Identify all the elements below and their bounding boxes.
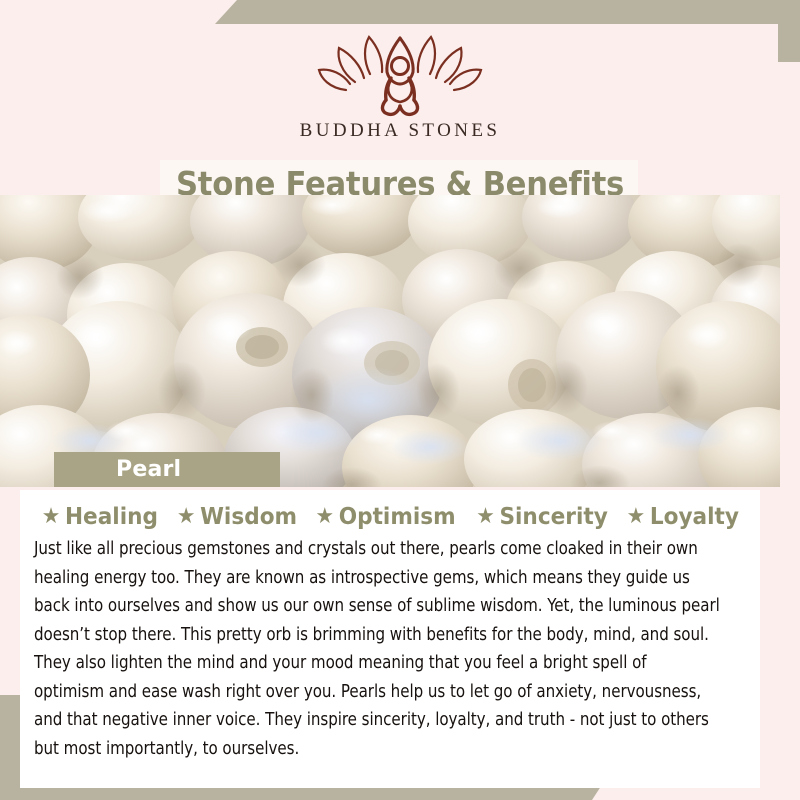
pearls-photo bbox=[0, 195, 780, 487]
feature-item-healing: ★ Healing bbox=[42, 504, 158, 530]
feature-item-sincerity: ★ Sincerity bbox=[476, 504, 608, 530]
brand-name: BUDDHA STONES bbox=[300, 120, 501, 142]
frame-band-top bbox=[215, 0, 800, 24]
star-icon: ★ bbox=[316, 506, 335, 528]
feature-item-optimism: ★ Optimism bbox=[316, 504, 456, 530]
description-panel: ★ Healing ★ Wisdom ★ Optimism ★ Sincerit… bbox=[20, 490, 760, 788]
feature-label: Loyalty bbox=[649, 504, 738, 530]
star-icon: ★ bbox=[176, 506, 195, 528]
frame-band-right bbox=[778, 0, 800, 62]
description-text: Just like all precious gemstones and cry… bbox=[34, 535, 721, 763]
star-icon: ★ bbox=[626, 506, 645, 528]
feature-label: Healing bbox=[65, 504, 158, 530]
feature-label: Sincerity bbox=[499, 504, 607, 530]
feature-label: Optimism bbox=[339, 504, 456, 530]
lotus-meditation-icon bbox=[315, 30, 485, 118]
brand-logo: BUDDHA STONES bbox=[22, 24, 778, 150]
infographic-page: BUDDHA STONES Stone Features & Benefits bbox=[0, 0, 800, 800]
stone-name-tag: Pearl bbox=[54, 452, 280, 487]
feature-label: Wisdom bbox=[200, 504, 297, 530]
pearls-photo-art bbox=[0, 195, 780, 487]
star-icon: ★ bbox=[42, 506, 61, 528]
frame-band-left bbox=[0, 695, 22, 800]
content-card: BUDDHA STONES Stone Features & Benefits bbox=[22, 24, 778, 760]
stone-name: Pearl bbox=[116, 457, 181, 482]
feature-item-loyalty: ★ Loyalty bbox=[626, 504, 738, 530]
feature-list: ★ Healing ★ Wisdom ★ Optimism ★ Sincerit… bbox=[20, 504, 760, 530]
star-icon: ★ bbox=[476, 506, 495, 528]
feature-item-wisdom: ★ Wisdom bbox=[176, 504, 296, 530]
